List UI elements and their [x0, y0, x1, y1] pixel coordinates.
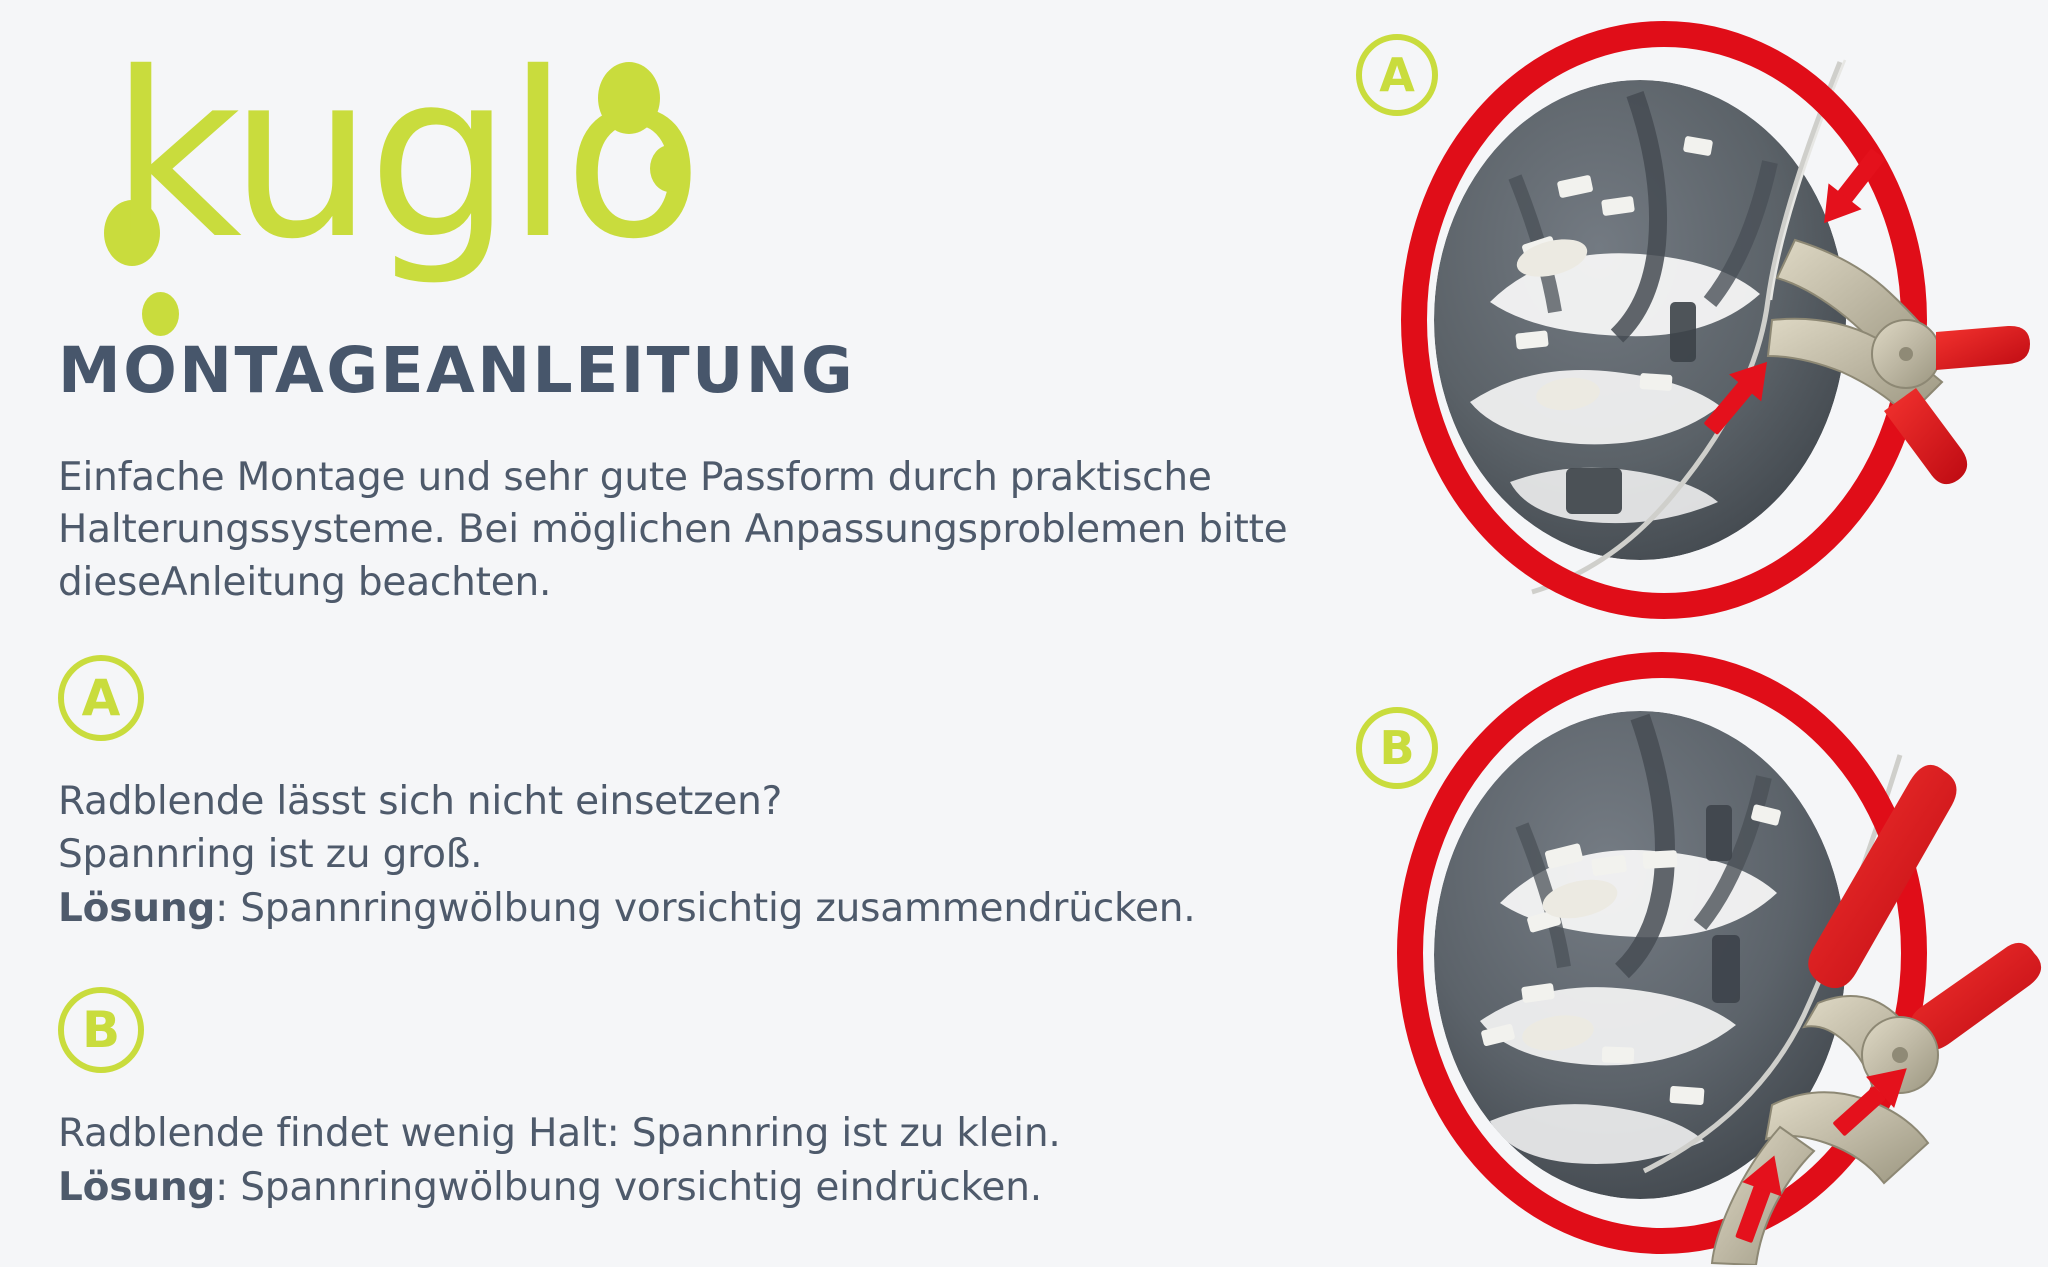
section-a-body: Radblende lässt sich nicht einsetzen? Sp… [58, 775, 1340, 935]
section-b-problem-line-1: Radblende findet wenig Halt: Spannring i… [58, 1107, 1340, 1160]
section-b-solution-text: : Spannringwölbung vorsichtig eindrücken… [215, 1165, 1042, 1210]
photo-b-illustration [1340, 635, 2048, 1265]
section-a-solution-text: : Spannringwölbung vorsichtig zusammendr… [215, 886, 1195, 931]
section-badge-a: A [58, 655, 144, 741]
section-a-solution-label: Lösung [58, 886, 215, 931]
photo-badge-b: B [1356, 707, 1438, 789]
logo-dot-small-left [142, 292, 179, 336]
assembly-instruction-page: kuglo MONTAGEANLEITUNG Einfache Montage … [0, 0, 2048, 1267]
section-b: B Radblende findet wenig Halt: Spannring… [58, 987, 1340, 1214]
intro-line-3: dieseAnleitung beachten. [58, 557, 1348, 609]
photo-column: A [1340, 0, 2048, 1267]
intro-paragraph: Einfache Montage und sehr gute Passform … [58, 452, 1348, 609]
page-title: MONTAGEANLEITUNG [58, 338, 1340, 404]
plier-pivot-bolt-a [1899, 347, 1913, 361]
section-badge-b: B [58, 987, 144, 1073]
kuglo-logo: kuglo [58, 40, 848, 330]
text-column: kuglo MONTAGEANLEITUNG Einfache Montage … [0, 0, 1340, 1267]
intro-line-2: Halterungssysteme. Bei möglichen Anpassu… [58, 504, 1348, 556]
photo-a: A [1340, 2, 2048, 632]
section-a: A Radblende lässt sich nicht einsetzen? … [58, 655, 1340, 935]
logo-dot-small-right [650, 145, 690, 192]
section-a-solution-line: Lösung: Spannringwölbung vorsichtig zusa… [58, 882, 1340, 935]
photo-b: B [1340, 635, 2048, 1265]
intro-line-1: Einfache Montage und sehr gute Passform … [58, 452, 1348, 504]
plier-pivot-bolt-b [1892, 1047, 1908, 1063]
section-b-solution-label: Lösung [58, 1165, 215, 1210]
photo-a-illustration [1340, 2, 2048, 632]
section-a-problem-line-1: Radblende lässt sich nicht einsetzen? [58, 775, 1340, 828]
photo-badge-a: A [1356, 34, 1438, 116]
section-b-body: Radblende findet wenig Halt: Spannring i… [58, 1107, 1340, 1214]
section-a-problem-line-2: Spannring ist zu groß. [58, 828, 1340, 881]
section-b-solution-line: Lösung: Spannringwölbung vorsichtig eind… [58, 1161, 1340, 1214]
logo-dot-large-right [598, 62, 660, 134]
